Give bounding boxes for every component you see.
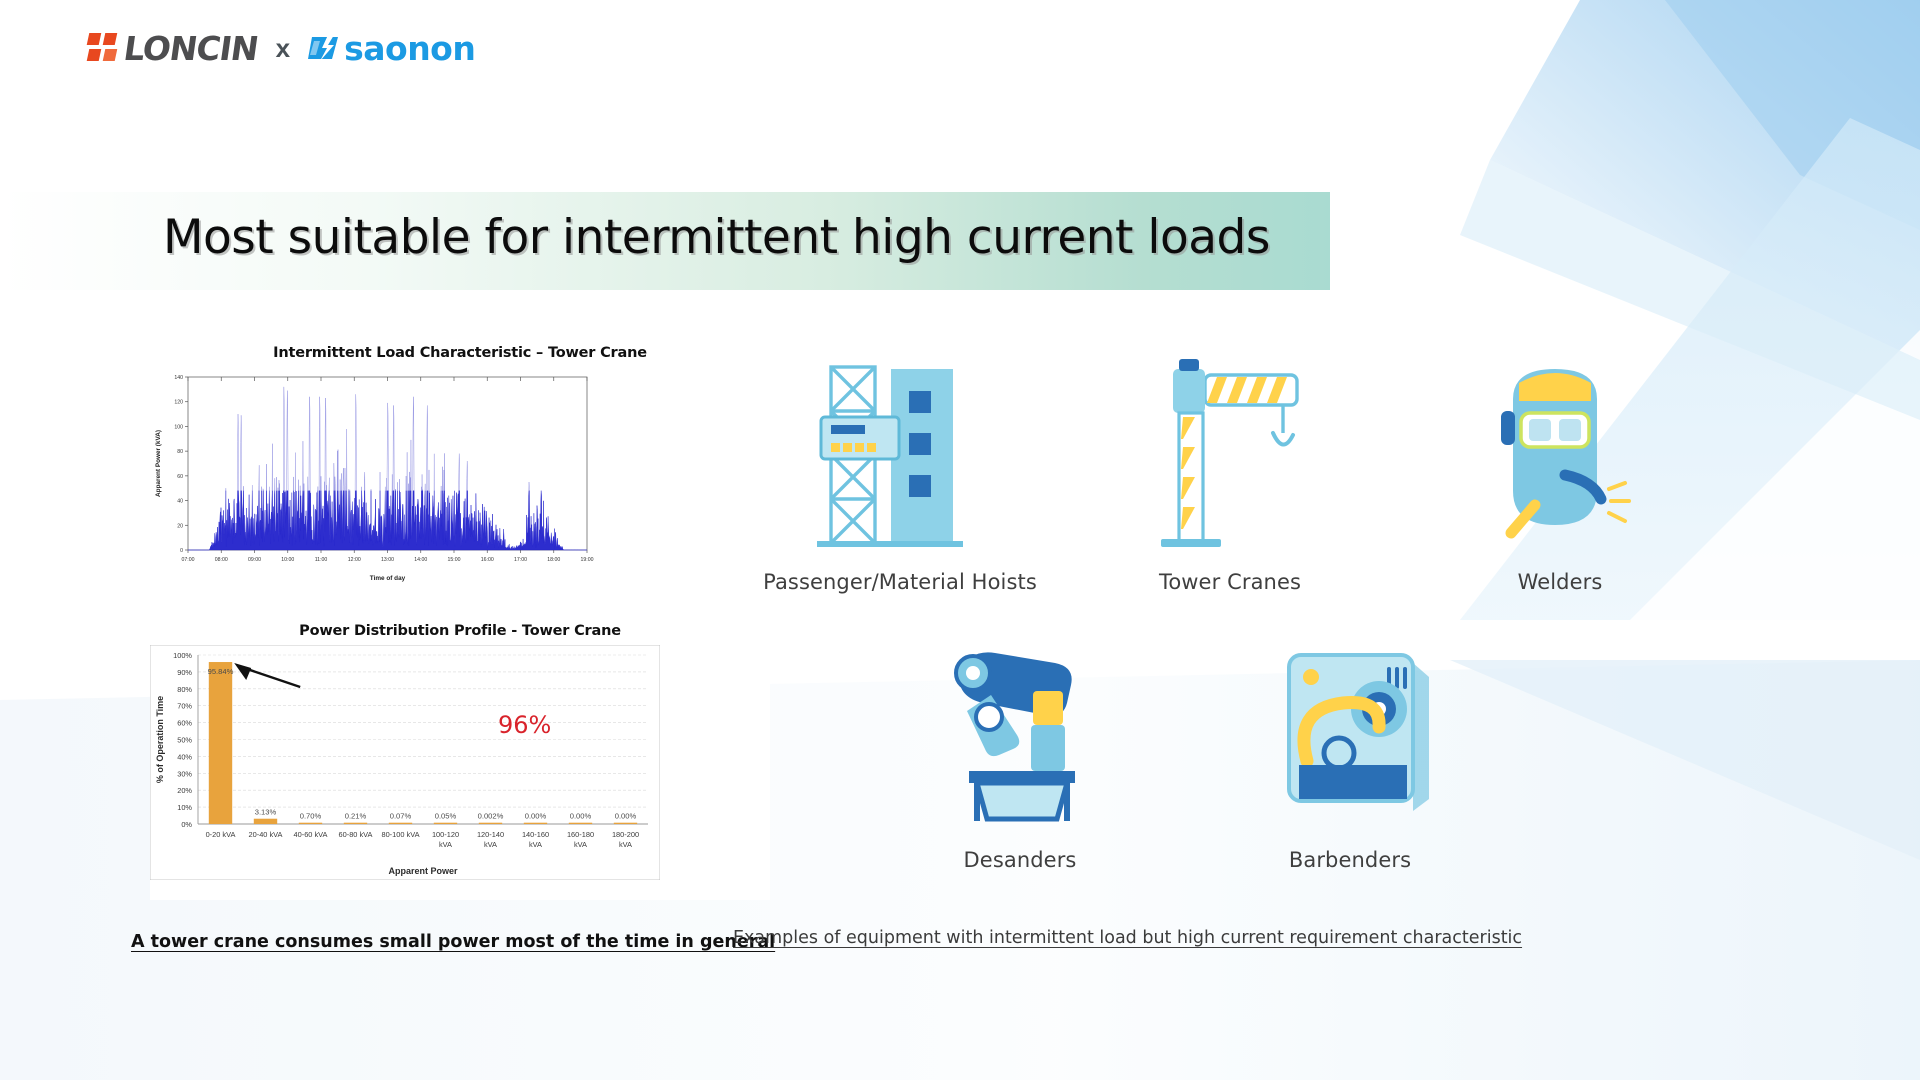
svg-text:Apparent Power: Apparent Power xyxy=(388,866,458,876)
svg-text:12:00: 12:00 xyxy=(348,557,361,563)
svg-text:kVA: kVA xyxy=(619,840,632,849)
hoist-icon xyxy=(813,350,988,550)
svg-text:15:00: 15:00 xyxy=(448,557,461,563)
equipment-item-desander: Desanders xyxy=(855,628,1185,872)
svg-text:120: 120 xyxy=(174,400,183,406)
svg-text:70%: 70% xyxy=(177,702,192,711)
svg-text:% of Operation Time: % of Operation Time xyxy=(155,696,165,783)
charts-column: Intermittent Load Characteristic – Tower… xyxy=(150,345,770,900)
tower-crane-icon xyxy=(1143,350,1318,550)
svg-text:100%: 100% xyxy=(173,651,192,660)
svg-text:120-140: 120-140 xyxy=(477,830,504,839)
page-title: Most suitable for intermittent high curr… xyxy=(163,210,1270,265)
svg-text:80-100 kVA: 80-100 kVA xyxy=(381,830,419,839)
svg-text:80%: 80% xyxy=(177,685,192,694)
equipment-item-welder: Welders xyxy=(1395,350,1725,594)
svg-text:0.70%: 0.70% xyxy=(300,812,322,821)
svg-text:80: 80 xyxy=(177,449,183,455)
saonon-bolt-icon xyxy=(308,35,342,61)
svg-text:40: 40 xyxy=(177,499,183,505)
svg-text:0.002%: 0.002% xyxy=(478,812,504,821)
desander-icon xyxy=(933,628,1108,828)
svg-text:07:00: 07:00 xyxy=(182,557,195,563)
svg-text:60-80 kVA: 60-80 kVA xyxy=(339,830,373,839)
welder-icon xyxy=(1473,350,1648,550)
saonon-logo: saonon xyxy=(308,29,475,68)
svg-text:30%: 30% xyxy=(177,769,192,778)
equipment-label: Desanders xyxy=(964,848,1077,872)
svg-text:16:00: 16:00 xyxy=(481,557,494,563)
brand-logo-row: LONCIN x saonon xyxy=(88,26,475,70)
svg-text:60: 60 xyxy=(177,474,183,480)
svg-text:Apparent Power (kVA): Apparent Power (kVA) xyxy=(155,430,162,497)
svg-text:0.21%: 0.21% xyxy=(345,812,367,821)
equipment-item-hoist: Passenger/Material Hoists xyxy=(735,350,1065,594)
svg-text:08:00: 08:00 xyxy=(215,557,228,563)
svg-text:20%: 20% xyxy=(177,786,192,795)
svg-text:10:00: 10:00 xyxy=(281,557,294,563)
bar-chart-card: Power Distribution Profile - Tower Crane… xyxy=(150,623,770,900)
loncin-mark-icon xyxy=(88,33,118,63)
svg-text:kVA: kVA xyxy=(574,840,587,849)
left-caption: A tower crane consumes small power most … xyxy=(131,932,731,952)
barbender-icon xyxy=(1263,628,1438,828)
loncin-logo: LONCIN xyxy=(88,29,258,68)
svg-text:0.05%: 0.05% xyxy=(435,812,457,821)
loncin-wordmark: LONCIN xyxy=(121,29,260,68)
svg-text:Time of day: Time of day xyxy=(370,575,406,582)
svg-text:0: 0 xyxy=(180,548,183,554)
svg-text:50%: 50% xyxy=(177,736,192,745)
svg-text:13:00: 13:00 xyxy=(381,557,394,563)
svg-text:160-180: 160-180 xyxy=(567,830,594,839)
equipment-row-1: Passenger/Material Hoists xyxy=(735,350,1855,594)
svg-text:kVA: kVA xyxy=(529,840,542,849)
callout-96-percent: 96% xyxy=(498,711,551,739)
svg-text:kVA: kVA xyxy=(439,840,452,849)
svg-text:10%: 10% xyxy=(177,803,192,812)
svg-text:40-60 kVA: 40-60 kVA xyxy=(294,830,328,839)
svg-text:0.07%: 0.07% xyxy=(390,812,412,821)
svg-text:0-20 kVA: 0-20 kVA xyxy=(206,830,236,839)
svg-text:100: 100 xyxy=(174,424,183,430)
equipment-label: Barbenders xyxy=(1289,848,1411,872)
right-caption: Examples of equipment with intermittent … xyxy=(733,928,1493,948)
svg-text:09:00: 09:00 xyxy=(248,557,261,563)
svg-text:19:00: 19:00 xyxy=(581,557,594,563)
brand-separator-x: x xyxy=(272,33,294,64)
svg-text:60%: 60% xyxy=(177,719,192,728)
line-chart-title: Intermittent Load Characteristic – Tower… xyxy=(150,345,770,361)
svg-text:20: 20 xyxy=(177,523,183,529)
svg-text:100-120: 100-120 xyxy=(432,830,459,839)
svg-text:0.00%: 0.00% xyxy=(615,812,637,821)
equipment-label: Passenger/Material Hoists xyxy=(763,570,1037,594)
svg-text:0.00%: 0.00% xyxy=(570,812,592,821)
svg-text:140-160: 140-160 xyxy=(522,830,549,839)
svg-text:0%: 0% xyxy=(181,820,192,829)
svg-text:180-200: 180-200 xyxy=(612,830,639,839)
svg-text:18:00: 18:00 xyxy=(547,557,560,563)
saonon-wordmark: saonon xyxy=(344,29,475,68)
equipment-label: Tower Cranes xyxy=(1159,570,1301,594)
svg-text:20-40 kVA: 20-40 kVA xyxy=(249,830,283,839)
svg-text:40%: 40% xyxy=(177,752,192,761)
svg-text:0.00%: 0.00% xyxy=(525,812,547,821)
svg-text:14:00: 14:00 xyxy=(414,557,427,563)
line-chart-card: Intermittent Load Characteristic – Tower… xyxy=(150,345,770,609)
slide-root: LONCIN x saonon Most suitable for interm… xyxy=(0,0,1920,1080)
equipment-label: Welders xyxy=(1518,570,1603,594)
svg-text:140: 140 xyxy=(174,375,183,381)
svg-text:17:00: 17:00 xyxy=(514,557,527,563)
svg-text:11:00: 11:00 xyxy=(315,557,328,563)
equipment-item-tower-crane: Tower Cranes xyxy=(1065,350,1395,594)
svg-text:90%: 90% xyxy=(177,668,192,677)
svg-text:95.84%: 95.84% xyxy=(208,667,234,676)
svg-text:3.13%: 3.13% xyxy=(255,808,277,817)
svg-text:kVA: kVA xyxy=(484,840,497,849)
equipment-grid: Passenger/Material Hoists xyxy=(735,350,1855,872)
bar-chart: 0%10%20%30%40%50%60%70%80%90%100%95.84%0… xyxy=(150,645,735,900)
bar-chart-title: Power Distribution Profile - Tower Crane xyxy=(150,623,770,639)
line-chart: 02040608010012014007:0008:0009:0010:0011… xyxy=(150,369,670,609)
equipment-item-barbender: Barbenders xyxy=(1185,628,1515,872)
equipment-row-2: Desanders xyxy=(735,628,1855,872)
